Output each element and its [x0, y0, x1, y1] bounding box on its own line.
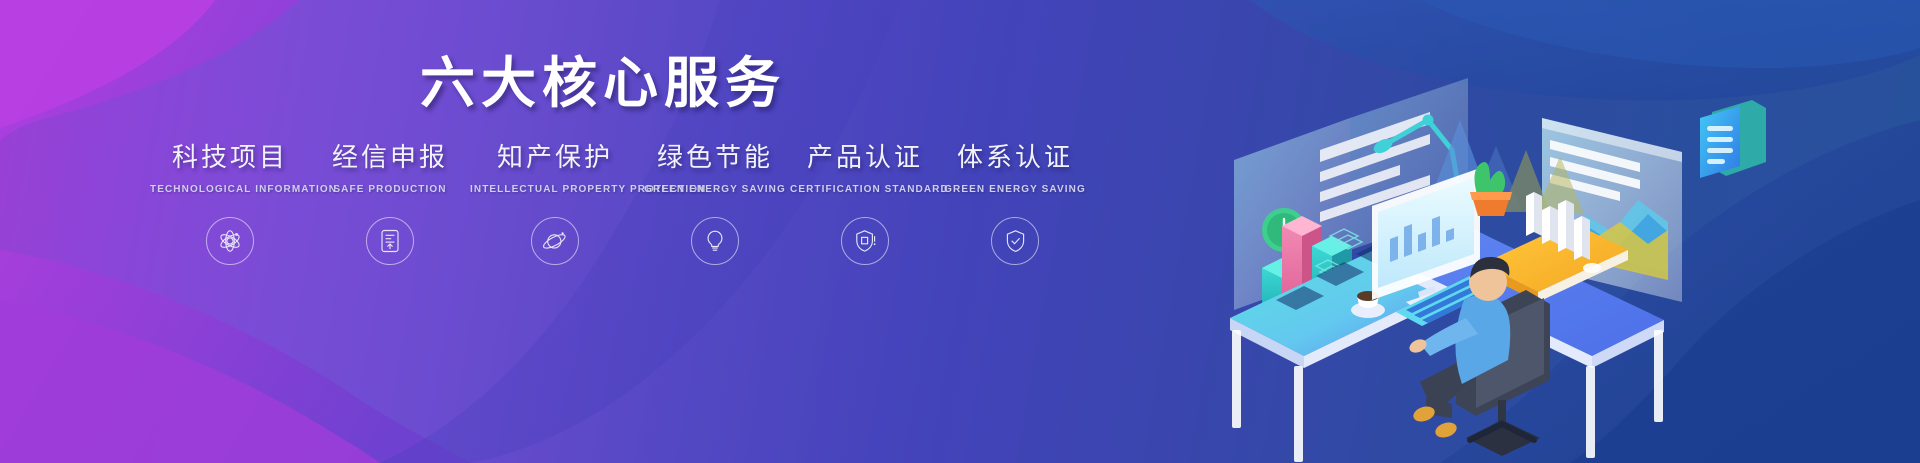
service-item-safe-production[interactable]: 经信申报 SAFE PRODUCTION: [310, 140, 470, 265]
service-title-cn: 产品认证: [790, 140, 940, 176]
service-item-intellectual-property-protection[interactable]: 知产保护 INTELLECTUAL PROPERTY PROTECTION: [470, 140, 640, 265]
service-item-system-certification[interactable]: 体系认证 GREEN ENERGY SAVING: [940, 140, 1090, 265]
service-item-technological-information[interactable]: 科技项目 TECHNOLOGICAL INFORMATION: [150, 140, 310, 265]
services-list: 科技项目 TECHNOLOGICAL INFORMATION 经信申报 SAFE…: [150, 140, 1090, 280]
isometric-workspace-illustration: [1220, 0, 1920, 463]
document-upload-icon[interactable]: [366, 217, 414, 265]
service-title-cn: 体系认证: [940, 140, 1090, 176]
lightbulb-icon[interactable]: [691, 217, 739, 265]
banner-root: 六大核心服务 科技项目 TECHNOLOGICAL INFORMATION: [0, 0, 1920, 463]
service-title-cn: 科技项目: [150, 140, 310, 176]
service-item-green-energy-saving[interactable]: 绿色节能 GREEN ENERGY SAVING: [640, 140, 790, 265]
service-title-en: TECHNOLOGICAL INFORMATION: [150, 184, 310, 195]
atom-icon[interactable]: [206, 217, 254, 265]
floating-document: [1700, 100, 1766, 178]
service-title-cn: 经信申报: [310, 140, 470, 176]
service-title-cn: 知产保护: [470, 140, 640, 176]
service-title-en: SAFE PRODUCTION: [310, 184, 470, 195]
service-title-en: CERTIFICATION STANDARD: [790, 184, 940, 195]
planet-icon[interactable]: [531, 217, 579, 265]
service-title-en: GREEN ENERGY SAVING: [940, 184, 1090, 195]
service-item-certification-standard[interactable]: 产品认证 CERTIFICATION STANDARD: [790, 140, 940, 265]
shield-badge-icon[interactable]: [841, 217, 889, 265]
shield-check-icon[interactable]: [991, 217, 1039, 265]
service-title-en: INTELLECTUAL PROPERTY PROTECTION: [470, 184, 640, 195]
content-area: 六大核心服务 科技项目 TECHNOLOGICAL INFORMATION: [0, 0, 1250, 463]
service-title-en: GREEN ENERGY SAVING: [640, 184, 790, 195]
page-title: 六大核心服务: [420, 38, 786, 118]
service-title-cn: 绿色节能: [640, 140, 790, 176]
